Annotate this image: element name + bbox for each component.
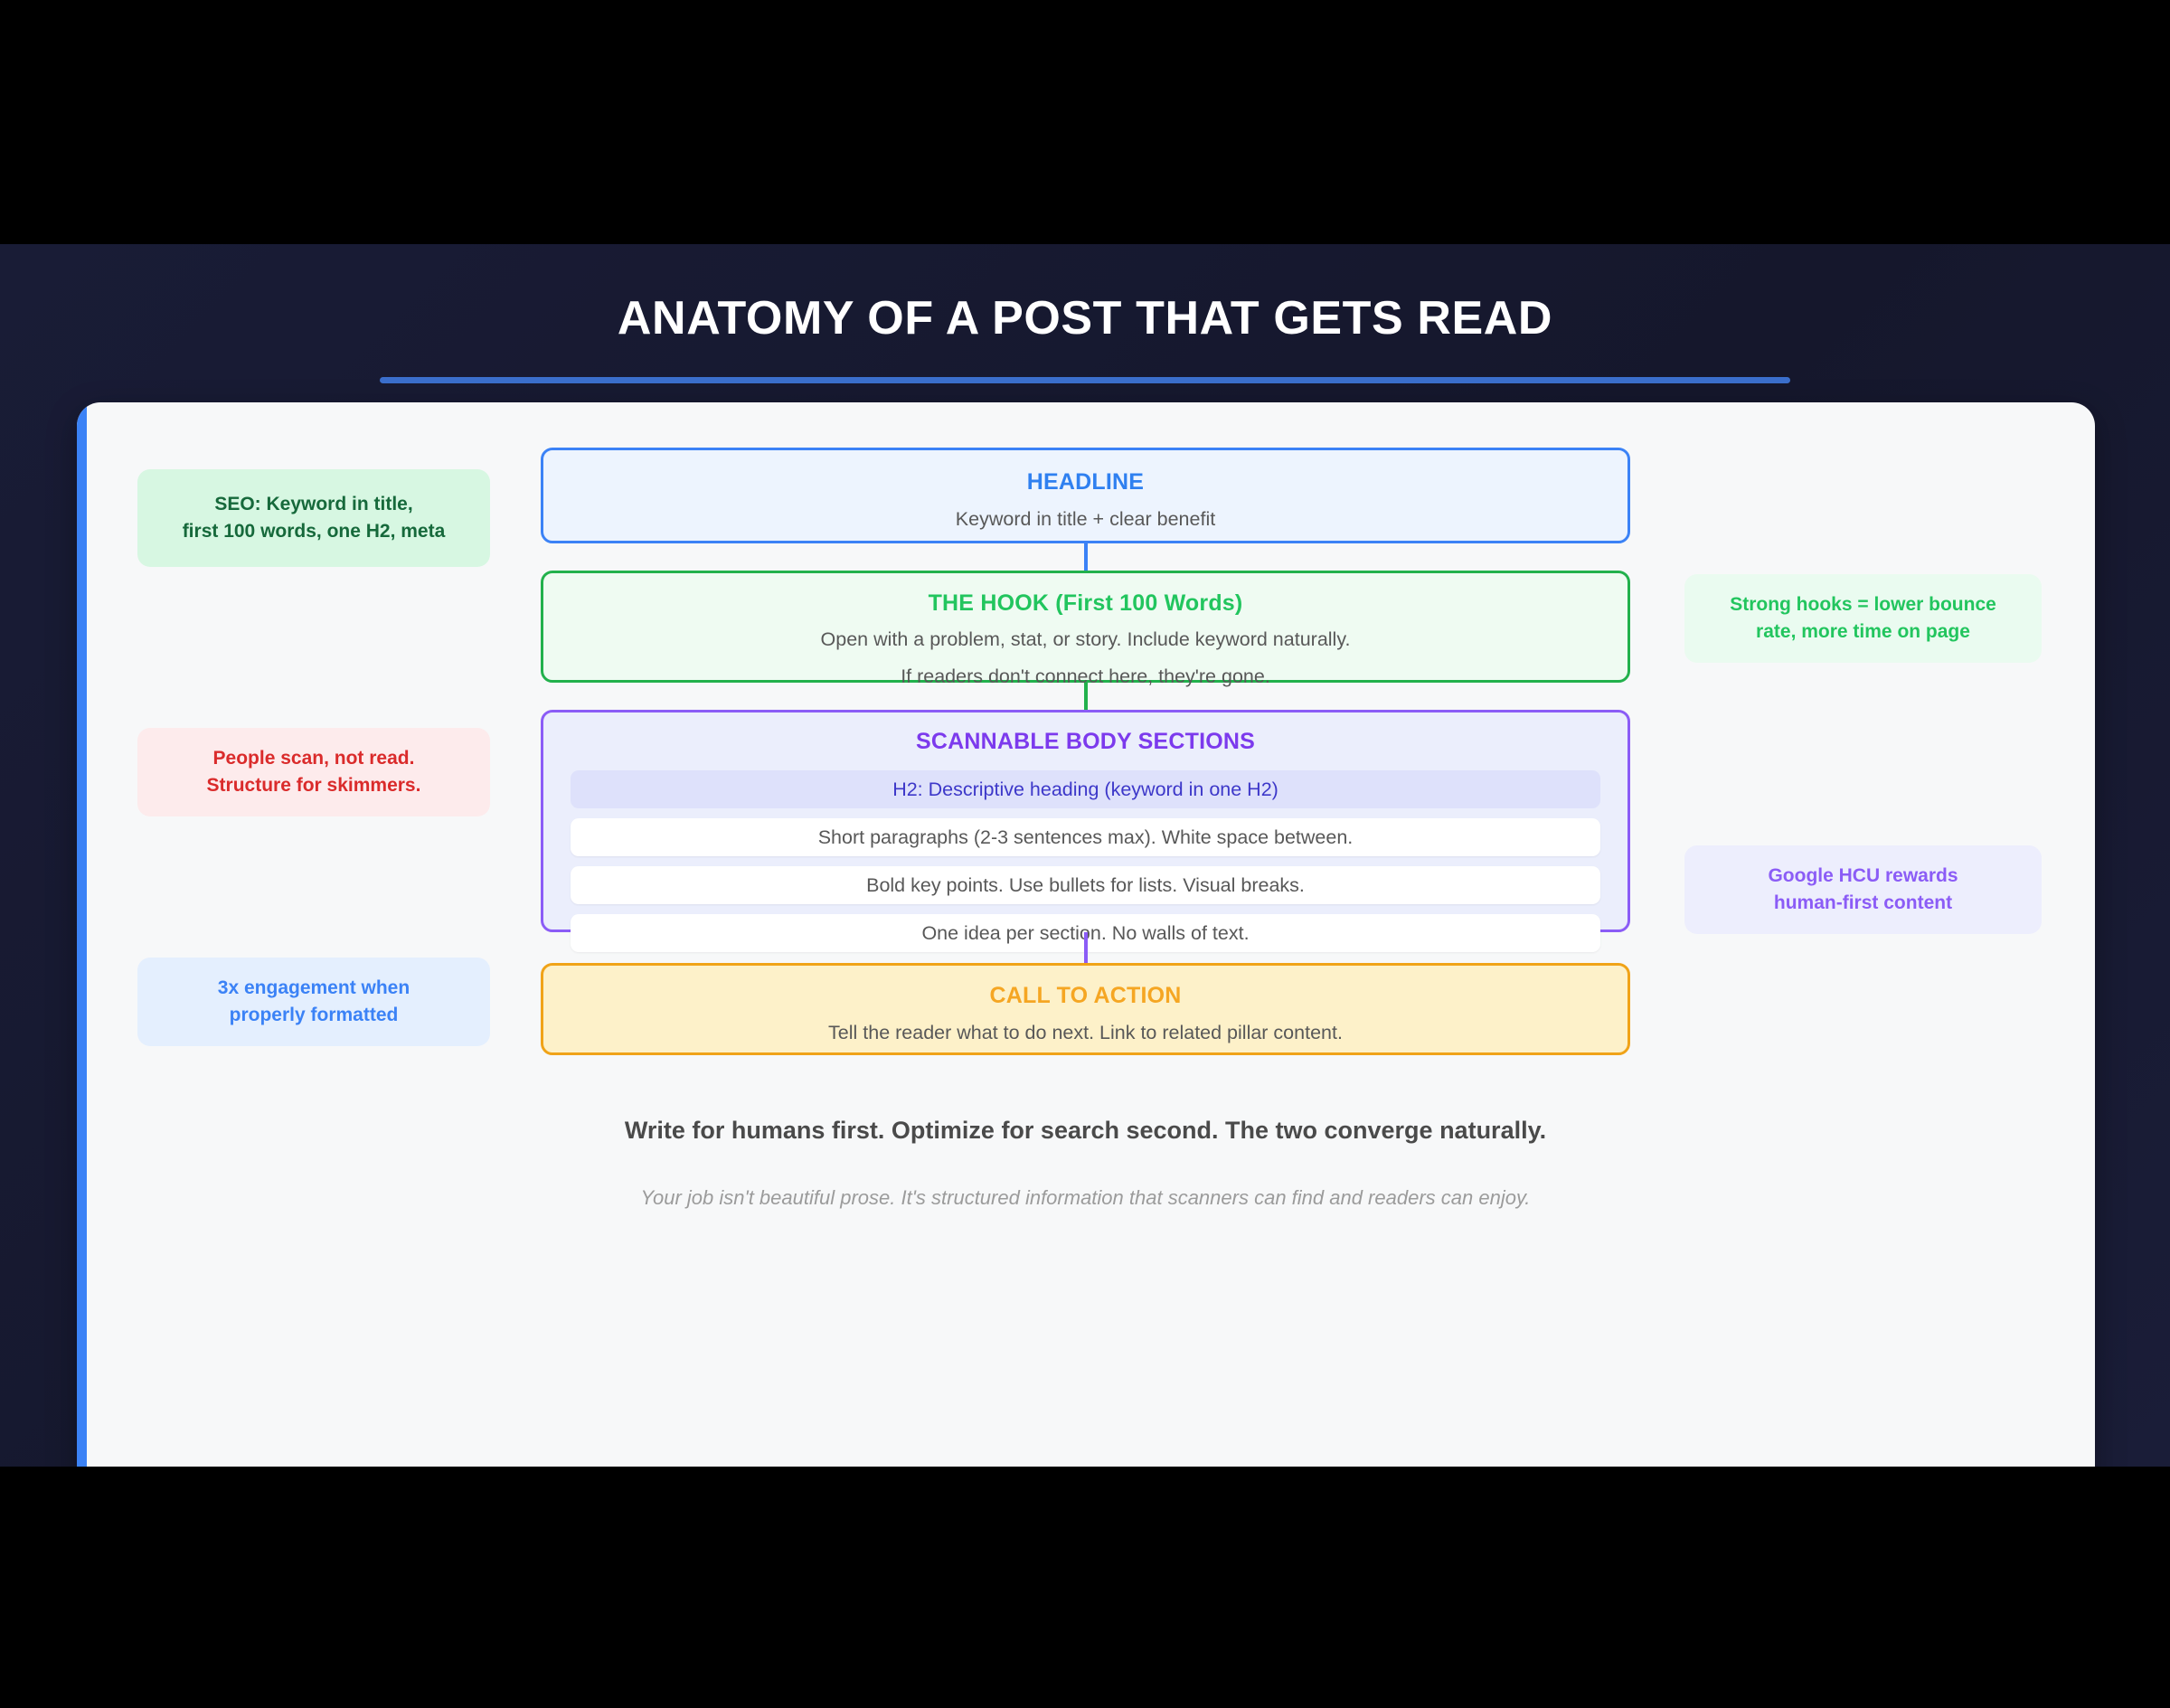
flow-headline-subtitle: Keyword in title + clear benefit [543,505,1627,533]
flow-hook-title: THE HOOK (First 100 Words) [543,590,1627,617]
card-accent-bar [77,402,87,1467]
flow-cta-subtitle: Tell the reader what to do next. Link to… [543,1019,1627,1047]
note-seo-line2: first 100 words, one H2, meta [150,518,477,545]
right-annotations-column: Strong hooks = lower bounce rate, more t… [1684,402,2042,1467]
flow-hook-subtitle-line1: Open with a problem, stat, or story. Inc… [543,626,1627,654]
note-scan-line2: Structure for skimmers. [150,772,477,799]
connector-headline-to-hook [1084,543,1088,571]
body-rows-list: H2: Descriptive heading (keyword in one … [571,770,1600,952]
note-seo: SEO: Keyword in title, first 100 words, … [137,469,490,567]
body-row-h2: H2: Descriptive heading (keyword in one … [571,770,1600,808]
note-strong-hooks: Strong hooks = lower bounce rate, more t… [1684,574,2042,663]
content-card: SEO: Keyword in title, first 100 words, … [77,402,2095,1467]
flow-body-title: SCANNABLE BODY SECTIONS [571,729,1600,755]
note-people-scan: People scan, not read. Structure for ski… [137,728,490,816]
flow-box-headline: HEADLINE Keyword in title + clear benefi… [541,448,1630,543]
note-hooks-line2: rate, more time on page [1697,618,2029,646]
connector-hook-to-body [1084,683,1088,710]
note-hooks-line1: Strong hooks = lower bounce [1697,591,2029,618]
flow-cta-title: CALL TO ACTION [543,983,1627,1009]
footer-sub-text: Your job isn't beautiful prose. It's str… [541,1186,1630,1210]
body-row-paragraphs: Short paragraphs (2-3 sentences max). Wh… [571,818,1600,856]
screenshot-stage: ANATOMY OF A POST THAT GETS READ SEO: Ke… [0,0,2170,1708]
note-engagement-line1: 3x engagement when [150,975,477,1002]
note-engagement-line2: properly formatted [150,1002,477,1029]
slide-canvas: ANATOMY OF A POST THAT GETS READ SEO: Ke… [0,244,2170,1467]
flow-box-hook: THE HOOK (First 100 Words) Open with a p… [541,571,1630,683]
note-scan-line1: People scan, not read. [150,745,477,772]
note-engagement: 3x engagement when properly formatted [137,958,490,1046]
note-seo-line1: SEO: Keyword in title, [150,491,477,518]
footer-block: Write for humans first. Optimize for sea… [541,1117,1630,1210]
flow-box-call-to-action: CALL TO ACTION Tell the reader what to d… [541,963,1630,1055]
note-google-hcu: Google HCU rewards human-first content [1684,845,2042,934]
title-block: ANATOMY OF A POST THAT GETS READ [0,291,2170,383]
flow-diagram-column: HEADLINE Keyword in title + clear benefi… [541,402,1630,1467]
note-hcu-line2: human-first content [1697,890,2029,917]
body-row-bold-points: Bold key points. Use bullets for lists. … [571,866,1600,904]
connector-body-to-cta [1084,932,1088,963]
page-title: ANATOMY OF A POST THAT GETS READ [0,291,2170,345]
flow-headline-title: HEADLINE [543,469,1627,495]
left-annotations-column: SEO: Keyword in title, first 100 words, … [137,402,490,1467]
flow-box-scannable-body: SCANNABLE BODY SECTIONS H2: Descriptive … [541,710,1630,932]
title-underline-rule [380,377,1790,383]
note-hcu-line1: Google HCU rewards [1697,863,2029,890]
footer-main-text: Write for humans first. Optimize for sea… [541,1117,1630,1145]
